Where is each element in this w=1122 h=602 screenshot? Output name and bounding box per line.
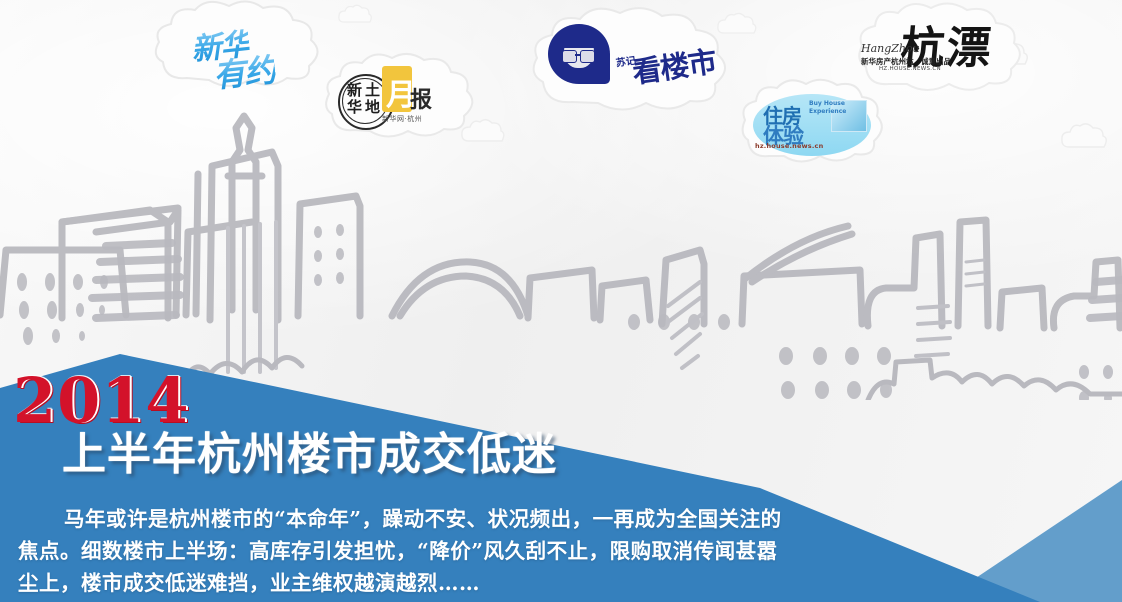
logo-line-2: 有约 — [211, 45, 277, 97]
page-lede-paragraph: 马年或许是杭州楼市的“本命年”，躁动不安、状况频出，一再成为全国关注的焦点。细数… — [18, 503, 788, 599]
logo-en-2: Experience — [809, 108, 846, 115]
logo-ring-char-2: 土 — [365, 83, 380, 98]
logo-main-text: 看楼市 — [629, 38, 718, 91]
logo-pinyin: HangZhou — [861, 42, 920, 55]
logo-url: hz.house.news.cn — [755, 142, 823, 150]
logo-xinhua-youyue[interactable]: 新华 有约 — [151, 0, 327, 92]
logo-ring-char-3: 华 — [347, 100, 362, 115]
page-headline: 上半年杭州楼市成交低迷 — [62, 433, 557, 477]
logo-en-1: Buy House — [809, 100, 845, 107]
logo-ring-char-4: 地 — [365, 100, 380, 115]
logo-subtitle: 新华网·杭州 — [382, 114, 422, 124]
logo-bao-char: 报 — [410, 82, 432, 114]
decorative-cloud-icon — [1058, 122, 1110, 154]
logo-suji-text: 苏记 看楼市 — [528, 6, 736, 118]
poster-canvas: 新华 有约 新 土 华 地 月 报 新华网·杭州 — [0, 0, 1122, 602]
logo-ring-char-1: 新 — [347, 83, 362, 98]
logo-hangpiao[interactable]: 杭漂 HangZhou 新华房产杭州站 诚意出品 HZ.HOUSE.NEWS.C… — [855, 2, 1027, 98]
avatar-hair-icon — [562, 32, 596, 48]
logo-xinhua-land-monthly[interactable]: 新 土 华 地 月 报 新华网·杭州 — [322, 52, 478, 144]
logo-hangpiao-text: 杭漂 HangZhou 新华房产杭州站 诚意出品 HZ.HOUSE.NEWS.C… — [855, 2, 1027, 98]
logo-subtitle-url: HZ.HOUSE.NEWS.CN — [879, 66, 941, 72]
glasses-icon — [562, 50, 596, 61]
lede-text: 马年或许是杭州楼市的“本命年”，躁动不安、状况频出，一再成为全国关注的焦点。细数… — [18, 507, 782, 595]
logo-xinhua-land-monthly-text: 新 土 华 地 月 报 新华网·杭州 — [322, 52, 478, 144]
page-title-year: 2014 — [13, 370, 190, 432]
decorative-cloud-icon — [336, 4, 374, 28]
logo-suji-kan-loushi[interactable]: 苏记 看楼市 — [528, 6, 736, 118]
logo-xinhua-youyue-text: 新华 有约 — [151, 0, 327, 92]
